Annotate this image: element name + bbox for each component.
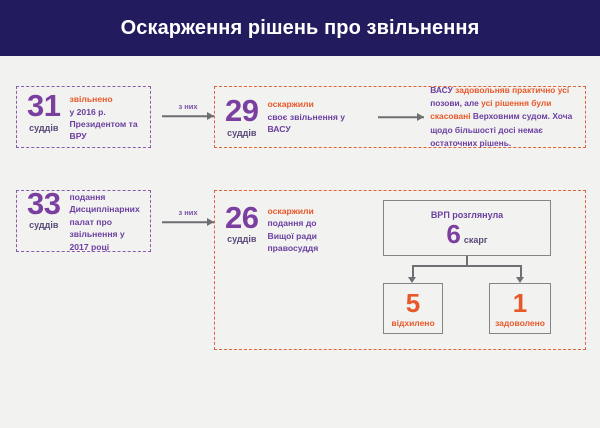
row2-source-unit: суддів — [29, 221, 58, 230]
result-box-rejected: 5 відхилено — [383, 283, 443, 334]
row1-target-unit: суддів — [227, 129, 256, 138]
row1-source-unit: суддів — [29, 124, 58, 133]
row1-source-number: 31 — [27, 91, 60, 120]
row1-target-description: оскаржили своє звільнення у ВАСУ — [267, 96, 368, 135]
row1-source-desc-rest: у 2016 р. Президентом та ВРУ — [69, 107, 137, 142]
tree-left-drop-line — [412, 265, 414, 277]
row2-target-desc-highlight: оскаржили — [267, 206, 313, 216]
header-bar: Оскарження рішень про звільнення — [0, 0, 600, 56]
row2-source-description: подання Дисциплінарних палат про звільне… — [69, 189, 141, 253]
row2-source-number: 33 — [27, 189, 60, 218]
vrp-root-number: 6 — [446, 221, 460, 247]
row2-target-description: оскаржили подання до Вищої ради правосуд… — [267, 203, 343, 255]
row2-connector-arrow-icon — [162, 218, 214, 227]
vrp-root-unit: скарг — [464, 235, 488, 245]
row1-connector: з них — [162, 99, 214, 123]
row1-source-description: звільнено у 2016 р. Президентом та ВРУ — [69, 91, 140, 143]
vrp-root-title: ВРП розглянула — [431, 210, 503, 220]
row2-connector: з них — [162, 205, 214, 229]
row1-note-seg1: ВАСУ — [430, 85, 455, 95]
row2-source-group: 33 суддів подання Дисциплінарних палат п… — [16, 190, 151, 252]
row2-target-unit: суддів — [227, 235, 256, 244]
row1-target-desc-rest: своє звільнення у ВАСУ — [267, 112, 345, 134]
tree-right-drop-line — [520, 265, 522, 277]
row2-source-stat: 33 суддів подання Дисциплінарних палат п… — [17, 189, 151, 253]
row1-note-arrow — [378, 112, 424, 122]
row1-connector-arrow-icon — [162, 112, 214, 121]
row2-source-number-wrap: 33 суддів — [27, 189, 60, 230]
result-box-granted: 1 задоволено — [489, 283, 551, 334]
row1-source-group: 31 суддів звільнено у 2016 р. Президенто… — [16, 86, 151, 148]
row1-target-number-wrap: 29 суддів — [225, 96, 258, 137]
vrp-root-number-row: 6 скарг — [446, 221, 487, 247]
row1-connector-label: з них — [178, 102, 197, 111]
row2-target-stat: 26 суддів оскаржили подання до Вищої рад… — [215, 203, 387, 255]
row2-target-desc-rest: подання до Вищої ради правосуддя — [267, 218, 318, 253]
row2-source-desc: подання Дисциплінарних палат про звільне… — [69, 192, 139, 252]
result-granted-caption: задоволено — [495, 318, 545, 328]
row1-source-number-wrap: 31 суддів — [27, 91, 60, 132]
result-rejected-number: 5 — [406, 290, 420, 316]
row1-note-seg3: позови, але — [430, 98, 481, 108]
row1-source-desc-highlight: звільнено — [69, 94, 112, 104]
row2-target-number: 26 — [225, 203, 258, 232]
row1-target-group: 29 суддів оскаржили своє звільнення у ВА… — [214, 86, 586, 148]
row1-note-arrow-icon — [378, 113, 424, 122]
page-title: Оскарження рішень про звільнення — [121, 17, 480, 40]
row1-target-number: 29 — [225, 96, 258, 125]
row1-source-stat: 31 суддів звільнено у 2016 р. Президенто… — [17, 91, 150, 143]
row2-connector-label: з них — [178, 208, 197, 217]
vrp-root-box: ВРП розглянула 6 скарг — [383, 200, 551, 256]
row1-note-text: ВАСУ задовольняв практично усі позови, а… — [430, 84, 585, 150]
tree-branch-line — [412, 265, 521, 267]
row1-note-seg2: задовольняв практично усі — [455, 85, 569, 95]
result-granted-number: 1 — [513, 290, 527, 316]
row1-target-desc-highlight: оскаржили — [267, 99, 313, 109]
row2-target-number-wrap: 26 суддів — [225, 203, 258, 244]
result-rejected-caption: відхилено — [391, 318, 434, 328]
row1-target-stat: 29 суддів оскаржили своє звільнення у ВА… — [215, 96, 378, 137]
